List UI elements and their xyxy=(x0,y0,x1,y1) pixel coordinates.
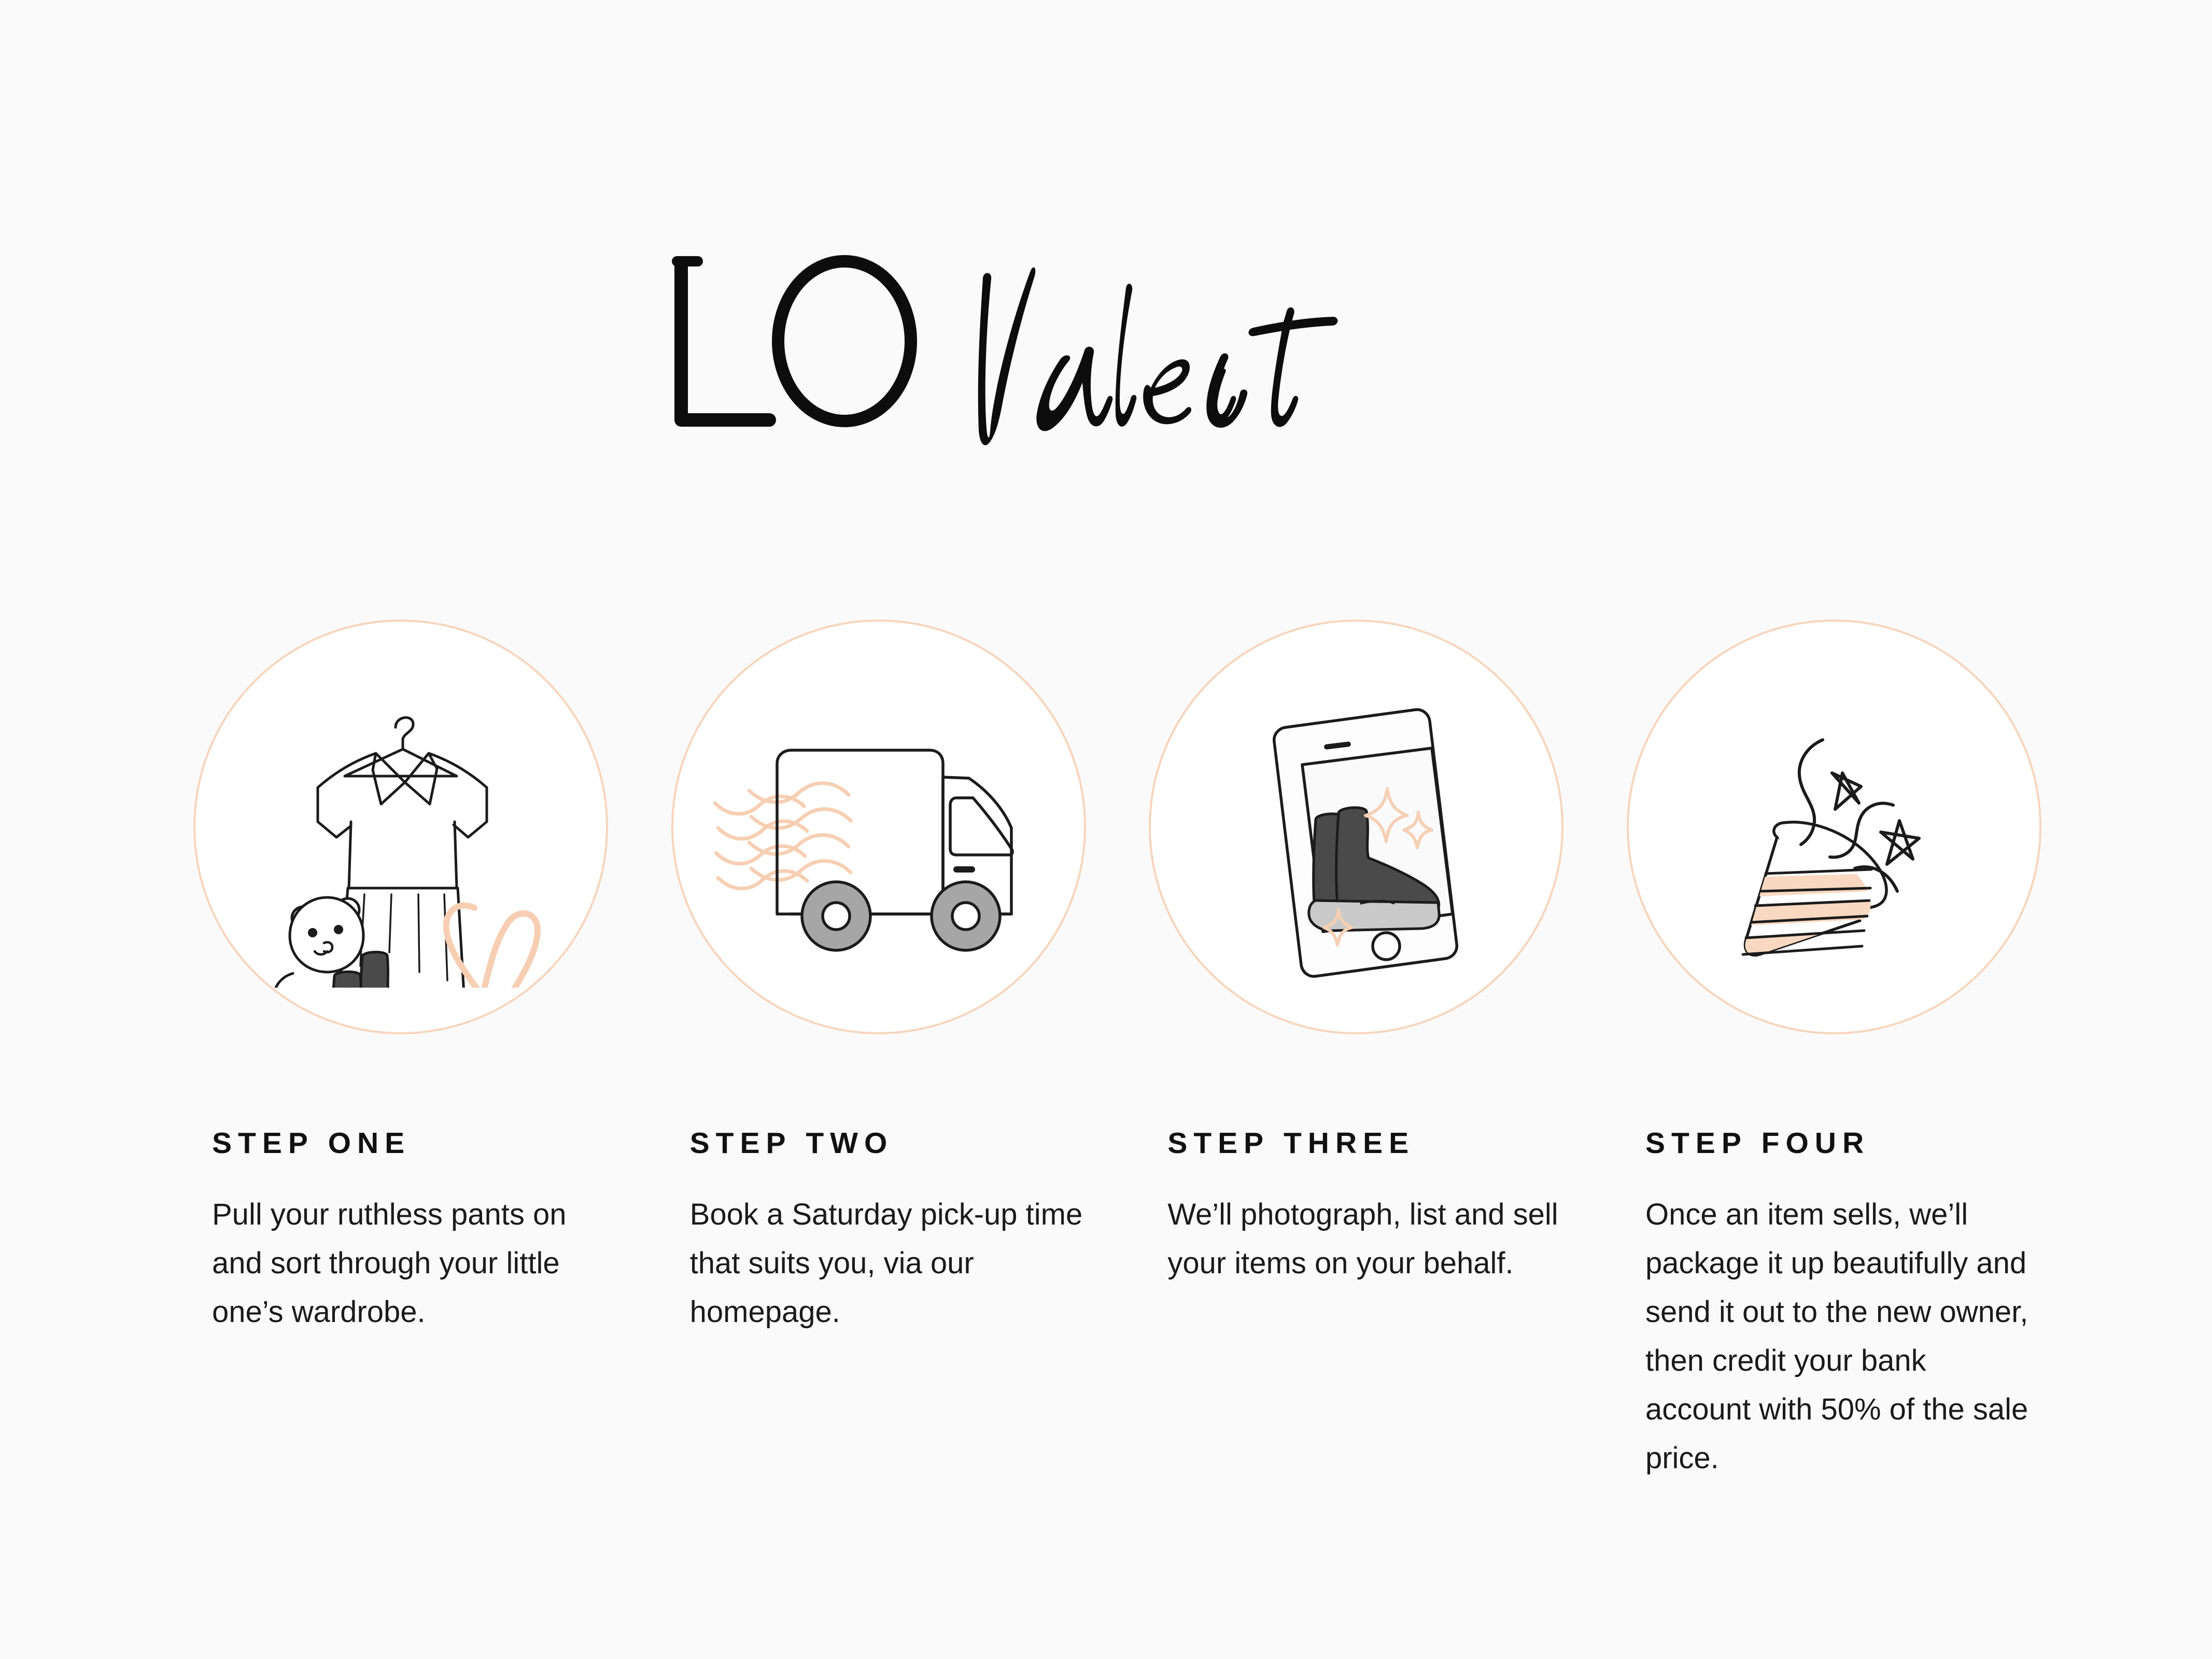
brand-logo: LO Valet xyxy=(0,244,2212,461)
step-one-body: Pull your ruthless pants on and sort thr… xyxy=(212,1190,606,1337)
speed-lines-part xyxy=(715,783,851,889)
logo-valet-script xyxy=(978,268,1337,445)
dress-on-hanger-icon xyxy=(193,620,608,1034)
step-one-heading: STEP ONE xyxy=(212,1129,411,1158)
steps-row: STEP ONE Pull your ruthless pants on and… xyxy=(193,620,2041,1553)
logo-lo-mark xyxy=(677,261,911,421)
striped-cone-part xyxy=(1742,822,1886,955)
smartphone-listing-icon xyxy=(1149,620,1563,1034)
truck-wheels-part xyxy=(802,882,1000,950)
party-popper-icon xyxy=(1627,620,2041,1034)
step-column-four: STEP FOUR Once an item sells, we’ll pack… xyxy=(1627,620,2041,1483)
step-four-heading: STEP FOUR xyxy=(1645,1129,1870,1158)
lo-valet-how-it-works-page: LO Valet xyxy=(0,0,2212,1659)
step-two-body: Book a Saturday pick-up time that suits … xyxy=(690,1190,1084,1337)
step-three-heading: STEP THREE xyxy=(1167,1129,1415,1158)
delivery-truck-icon xyxy=(671,620,1086,1034)
step-four-body: Once an item sells, we’ll package it up … xyxy=(1645,1190,2039,1483)
step-three-body: We’ll photograph, list and sell your ite… xyxy=(1167,1190,1561,1288)
step-two-heading: STEP TWO xyxy=(690,1129,894,1158)
step-column-three: STEP THREE We’ll photograph, list and se… xyxy=(1149,620,1563,1288)
step-column-two: STEP TWO Book a Saturday pick-up time th… xyxy=(671,620,1086,1337)
step-column-one: STEP ONE Pull your ruthless pants on and… xyxy=(193,620,608,1337)
